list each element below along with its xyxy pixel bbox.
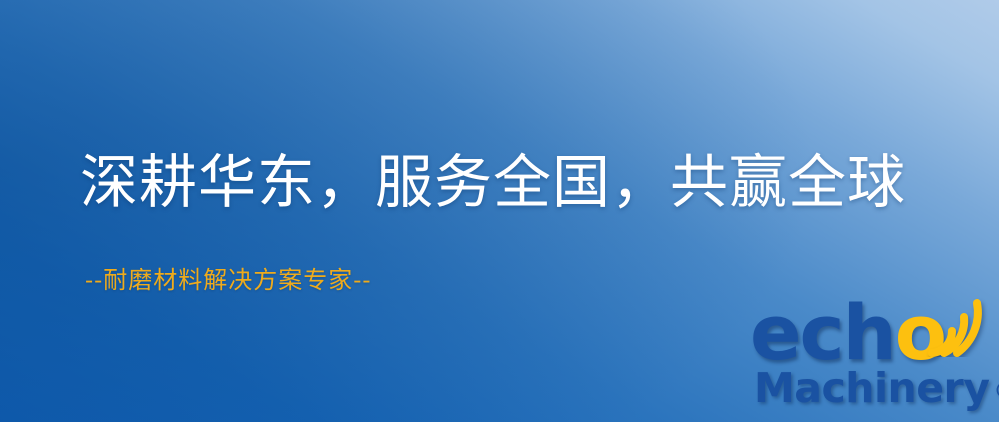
logo-tagline: Machinery® xyxy=(754,368,999,409)
company-logo[interactable]: echo Machinery® xyxy=(744,295,999,422)
registered-trademark-icon: ® xyxy=(993,379,999,404)
hero-banner: 深耕华东，服务全国，共赢全球 --耐磨材料解决方案专家-- echo Machi… xyxy=(0,0,999,422)
page-title: 深耕华东，服务全国，共赢全球 xyxy=(80,153,906,211)
logo-wordmark: echo xyxy=(750,295,945,371)
signal-waves-icon xyxy=(926,295,992,357)
logo-tagline-text: Machinery xyxy=(754,364,989,412)
page-subtitle: --耐磨材料解决方案专家-- xyxy=(85,268,371,292)
